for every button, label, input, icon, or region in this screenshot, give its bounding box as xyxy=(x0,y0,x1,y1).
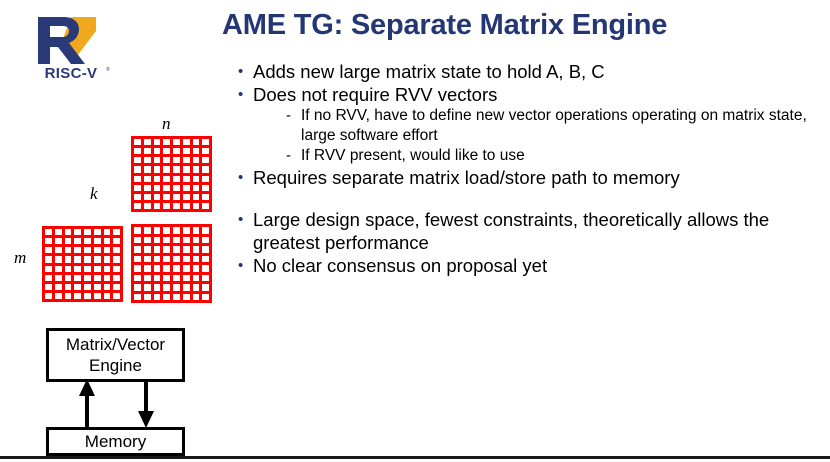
matrix-cell xyxy=(163,166,170,172)
matrix-cell xyxy=(134,237,141,244)
matrix-cell xyxy=(94,293,101,299)
matrix-cell xyxy=(84,284,91,290)
matrix-cell xyxy=(163,284,170,291)
matrix-cell xyxy=(173,265,180,272)
matrix-cell xyxy=(202,194,209,200)
matrix-cell xyxy=(134,227,141,234)
matrix-label-k: k xyxy=(90,184,98,204)
matrix-cell xyxy=(104,266,111,272)
svg-text:RISC-V: RISC-V xyxy=(45,65,98,82)
matrix-cell xyxy=(193,256,200,263)
matrix-cell xyxy=(94,229,101,235)
matrix-cell xyxy=(104,293,111,299)
matrix-cell xyxy=(74,284,81,290)
matrix-cell xyxy=(173,237,180,244)
matrix-cell xyxy=(193,265,200,272)
matrix-cell xyxy=(55,293,62,299)
matrix-cell xyxy=(163,157,170,163)
bullet-text: If no RVV, have to define new vector ope… xyxy=(301,106,830,146)
matrix-cell xyxy=(163,185,170,191)
matrix-cell xyxy=(45,247,52,253)
matrix-cell xyxy=(94,256,101,262)
bullet-dot-icon: • xyxy=(238,166,253,189)
bullet-text: Adds new large matrix state to hold A, B… xyxy=(253,60,830,83)
matrix-cell xyxy=(45,266,52,272)
memory-path-block-diagram: Matrix/Vector Engine Memory xyxy=(0,320,225,462)
matrix-cell xyxy=(113,293,120,299)
matrix-cell xyxy=(193,194,200,200)
matrix-cell xyxy=(94,275,101,281)
matrix-cell xyxy=(202,227,209,234)
matrix-cell xyxy=(193,284,200,291)
matrix-cell xyxy=(163,176,170,182)
engine-label-line2: Engine xyxy=(89,356,142,375)
matrix-cell xyxy=(202,265,209,272)
matrix-cell xyxy=(183,227,190,234)
matrix-cell xyxy=(55,266,62,272)
matrix-cell xyxy=(84,229,91,235)
engine-label-line1: Matrix/Vector xyxy=(66,335,165,354)
matrix-vector-engine-box: Matrix/Vector Engine xyxy=(46,328,185,382)
matrix-cell xyxy=(74,293,81,299)
matrix-cell xyxy=(183,148,190,154)
matrix-label-m: m xyxy=(14,248,26,268)
matrix-cell xyxy=(134,176,141,182)
matrix-a xyxy=(42,226,123,302)
matrix-cell xyxy=(55,238,62,244)
matrix-cell xyxy=(55,256,62,262)
matrix-cell xyxy=(134,294,141,301)
matrix-cell xyxy=(202,185,209,191)
matrix-cell xyxy=(104,284,111,290)
risc-v-logo: RISC-V ® xyxy=(30,14,112,84)
matrix-cell xyxy=(144,284,151,291)
matrix-cell xyxy=(74,256,81,262)
matrix-cell xyxy=(134,194,141,200)
matrix-cell xyxy=(45,238,52,244)
bullet-item: •Large design space, fewest constraints,… xyxy=(234,208,830,254)
matrix-cell xyxy=(113,275,120,281)
matrix-cell xyxy=(202,148,209,154)
bullet-text: Requires separate matrix load/store path… xyxy=(253,166,830,189)
matrix-cell xyxy=(84,275,91,281)
matrix-cell xyxy=(154,227,161,234)
matrix-cell xyxy=(193,176,200,182)
matrix-cell xyxy=(202,275,209,282)
matrix-cell xyxy=(144,265,151,272)
matrix-cell xyxy=(193,246,200,253)
matrix-cell xyxy=(55,247,62,253)
matrix-cell xyxy=(193,157,200,163)
matrix-cell xyxy=(202,166,209,172)
matrix-cell xyxy=(144,194,151,200)
matrix-cell xyxy=(154,275,161,282)
matrix-cell xyxy=(154,237,161,244)
matrix-cell xyxy=(55,275,62,281)
matrix-cell xyxy=(144,227,151,234)
matrix-cell xyxy=(173,246,180,253)
matrix-cell xyxy=(65,293,72,299)
matrix-cell xyxy=(154,284,161,291)
matrix-cell xyxy=(154,256,161,263)
bullet-spacer xyxy=(234,189,830,208)
matrix-cell xyxy=(183,275,190,282)
matrix-cell xyxy=(154,203,161,209)
matrix-cell xyxy=(45,256,52,262)
matrix-cell xyxy=(183,166,190,172)
matrix-cell xyxy=(183,194,190,200)
matrix-cell xyxy=(144,176,151,182)
matrix-cell xyxy=(144,157,151,163)
matrix-cell xyxy=(94,266,101,272)
matrix-cell xyxy=(74,238,81,244)
matrix-cell xyxy=(104,238,111,244)
matrix-cell xyxy=(183,284,190,291)
matrix-cell xyxy=(144,246,151,253)
matrix-cell xyxy=(193,166,200,172)
matrix-cell xyxy=(104,247,111,253)
matrix-cell xyxy=(134,185,141,191)
matrix-cell xyxy=(113,284,120,290)
matrix-cell xyxy=(65,275,72,281)
matrix-cell xyxy=(183,246,190,253)
matrix-diagram: n k m xyxy=(0,100,225,315)
matrix-cell xyxy=(163,139,170,145)
matrix-cell xyxy=(163,237,170,244)
matrix-cell xyxy=(183,157,190,163)
matrix-cell xyxy=(65,266,72,272)
matrix-cell xyxy=(173,157,180,163)
svg-text:®: ® xyxy=(106,66,110,73)
matrix-c xyxy=(131,224,212,303)
matrix-cell xyxy=(154,157,161,163)
matrix-cell xyxy=(193,203,200,209)
matrix-cell xyxy=(202,256,209,263)
matrix-cell xyxy=(84,247,91,253)
matrix-cell xyxy=(144,256,151,263)
matrix-cell xyxy=(65,229,72,235)
matrix-cell xyxy=(173,176,180,182)
matrix-cell xyxy=(163,203,170,209)
matrix-cell xyxy=(144,166,151,172)
matrix-b xyxy=(131,136,212,212)
matrix-cell xyxy=(45,229,52,235)
page-title: AME TG: Separate Matrix Engine xyxy=(222,8,822,42)
bullet-item: •No clear consensus on proposal yet xyxy=(234,254,830,277)
matrix-cell xyxy=(173,194,180,200)
matrix-cell xyxy=(193,237,200,244)
matrix-cell xyxy=(154,246,161,253)
matrix-cell xyxy=(134,246,141,253)
matrix-cell xyxy=(144,185,151,191)
matrix-cell xyxy=(183,265,190,272)
matrix-cell xyxy=(84,256,91,262)
matrix-cell xyxy=(134,203,141,209)
matrix-cell xyxy=(154,148,161,154)
risc-v-logo-mark xyxy=(38,17,96,64)
risc-v-wordmark: RISC-V ® xyxy=(30,64,112,82)
matrix-cell xyxy=(94,247,101,253)
matrix-cell xyxy=(144,148,151,154)
matrix-cell xyxy=(173,148,180,154)
matrix-cell xyxy=(45,275,52,281)
matrix-cell xyxy=(202,246,209,253)
matrix-cell xyxy=(74,266,81,272)
matrix-cell xyxy=(74,229,81,235)
matrix-cell xyxy=(104,275,111,281)
bullet-item: •Adds new large matrix state to hold A, … xyxy=(234,60,830,83)
matrix-cell xyxy=(154,294,161,301)
matrix-cell xyxy=(154,139,161,145)
matrix-cell xyxy=(202,294,209,301)
matrix-cell xyxy=(173,294,180,301)
matrix-cell xyxy=(74,275,81,281)
matrix-cell xyxy=(173,275,180,282)
bullet-text: Does not require RVV vectors xyxy=(253,83,830,106)
matrix-cell xyxy=(55,284,62,290)
bullet-dot-icon: • xyxy=(238,208,253,231)
matrix-cell xyxy=(193,139,200,145)
matrix-cell xyxy=(55,229,62,235)
matrix-cell xyxy=(94,238,101,244)
matrix-cell xyxy=(134,157,141,163)
matrix-cell xyxy=(65,238,72,244)
matrix-cell xyxy=(113,229,120,235)
matrix-cell xyxy=(134,284,141,291)
bullet-dot-icon: • xyxy=(238,254,253,277)
matrix-cell xyxy=(202,139,209,145)
matrix-cell xyxy=(45,284,52,290)
matrix-cell xyxy=(173,203,180,209)
matrix-cell xyxy=(163,256,170,263)
matrix-cell xyxy=(154,166,161,172)
matrix-cell xyxy=(163,294,170,301)
matrix-cell xyxy=(173,284,180,291)
matrix-cell xyxy=(144,237,151,244)
matrix-cell xyxy=(144,294,151,301)
slide-canvas: RISC-V ® AME TG: Separate Matrix Engine … xyxy=(0,0,830,462)
matrix-cell xyxy=(183,176,190,182)
matrix-cell xyxy=(183,185,190,191)
matrix-cell xyxy=(144,275,151,282)
matrix-cell xyxy=(134,256,141,263)
matrix-cell xyxy=(113,256,120,262)
matrix-cell xyxy=(84,266,91,272)
matrix-cell xyxy=(183,256,190,263)
matrix-cell xyxy=(104,229,111,235)
matrix-cell xyxy=(113,247,120,253)
bullet-text: No clear consensus on proposal yet xyxy=(253,254,830,277)
matrix-cell xyxy=(202,284,209,291)
matrix-cell xyxy=(154,185,161,191)
matrix-cell xyxy=(193,185,200,191)
matrix-label-n: n xyxy=(162,114,171,134)
matrix-cell xyxy=(193,294,200,301)
matrix-cell xyxy=(94,284,101,290)
matrix-cell xyxy=(144,203,151,209)
matrix-cell xyxy=(173,185,180,191)
matrix-cell xyxy=(144,139,151,145)
matrix-cell xyxy=(84,238,91,244)
matrix-cell xyxy=(45,293,52,299)
matrix-cell xyxy=(183,294,190,301)
matrix-cell xyxy=(202,176,209,182)
matrix-cell xyxy=(183,139,190,145)
matrix-cell xyxy=(193,275,200,282)
matrix-cell xyxy=(183,237,190,244)
bullet-item: •Does not require RVV vectors xyxy=(234,83,830,106)
matrix-cell xyxy=(163,246,170,253)
bullet-dash-icon: - xyxy=(286,106,301,126)
matrix-cell xyxy=(113,266,120,272)
matrix-cell xyxy=(84,293,91,299)
bullet-text: If RVV present, would like to use xyxy=(301,146,830,166)
matrix-cell xyxy=(104,256,111,262)
bullet-list: •Adds new large matrix state to hold A, … xyxy=(234,60,830,277)
bullet-dot-icon: • xyxy=(238,60,253,83)
matrix-cell xyxy=(173,139,180,145)
bullet-item: •Requires separate matrix load/store pat… xyxy=(234,166,830,189)
matrix-cell xyxy=(202,237,209,244)
memory-box: Memory xyxy=(46,427,185,456)
matrix-cell xyxy=(134,139,141,145)
matrix-cell xyxy=(134,265,141,272)
matrix-cell xyxy=(163,194,170,200)
matrix-cell xyxy=(163,227,170,234)
matrix-cell xyxy=(202,203,209,209)
matrix-cell xyxy=(154,265,161,272)
bullet-dot-icon: • xyxy=(238,83,253,106)
matrix-cell xyxy=(163,265,170,272)
matrix-cell xyxy=(173,227,180,234)
matrix-cell xyxy=(134,275,141,282)
matrix-cell xyxy=(65,256,72,262)
matrix-cell xyxy=(193,148,200,154)
matrix-cell xyxy=(154,194,161,200)
matrix-cell xyxy=(173,256,180,263)
bullet-dash-icon: - xyxy=(286,146,301,166)
bullet-item: -If no RVV, have to define new vector op… xyxy=(234,106,830,146)
matrix-cell xyxy=(74,247,81,253)
matrix-cell xyxy=(183,203,190,209)
matrix-cell xyxy=(113,238,120,244)
slide-bottom-rule xyxy=(0,456,830,459)
bullet-item: -If RVV present, would like to use xyxy=(234,146,830,166)
matrix-cell xyxy=(202,157,209,163)
matrix-cell xyxy=(134,166,141,172)
matrix-cell xyxy=(134,148,141,154)
matrix-cell xyxy=(163,275,170,282)
bullet-text: Large design space, fewest constraints, … xyxy=(253,208,830,254)
matrix-cell xyxy=(193,227,200,234)
matrix-cell xyxy=(65,247,72,253)
memory-label: Memory xyxy=(85,431,146,452)
matrix-cell xyxy=(154,176,161,182)
matrix-cell xyxy=(173,166,180,172)
matrix-cell xyxy=(163,148,170,154)
matrix-cell xyxy=(65,284,72,290)
